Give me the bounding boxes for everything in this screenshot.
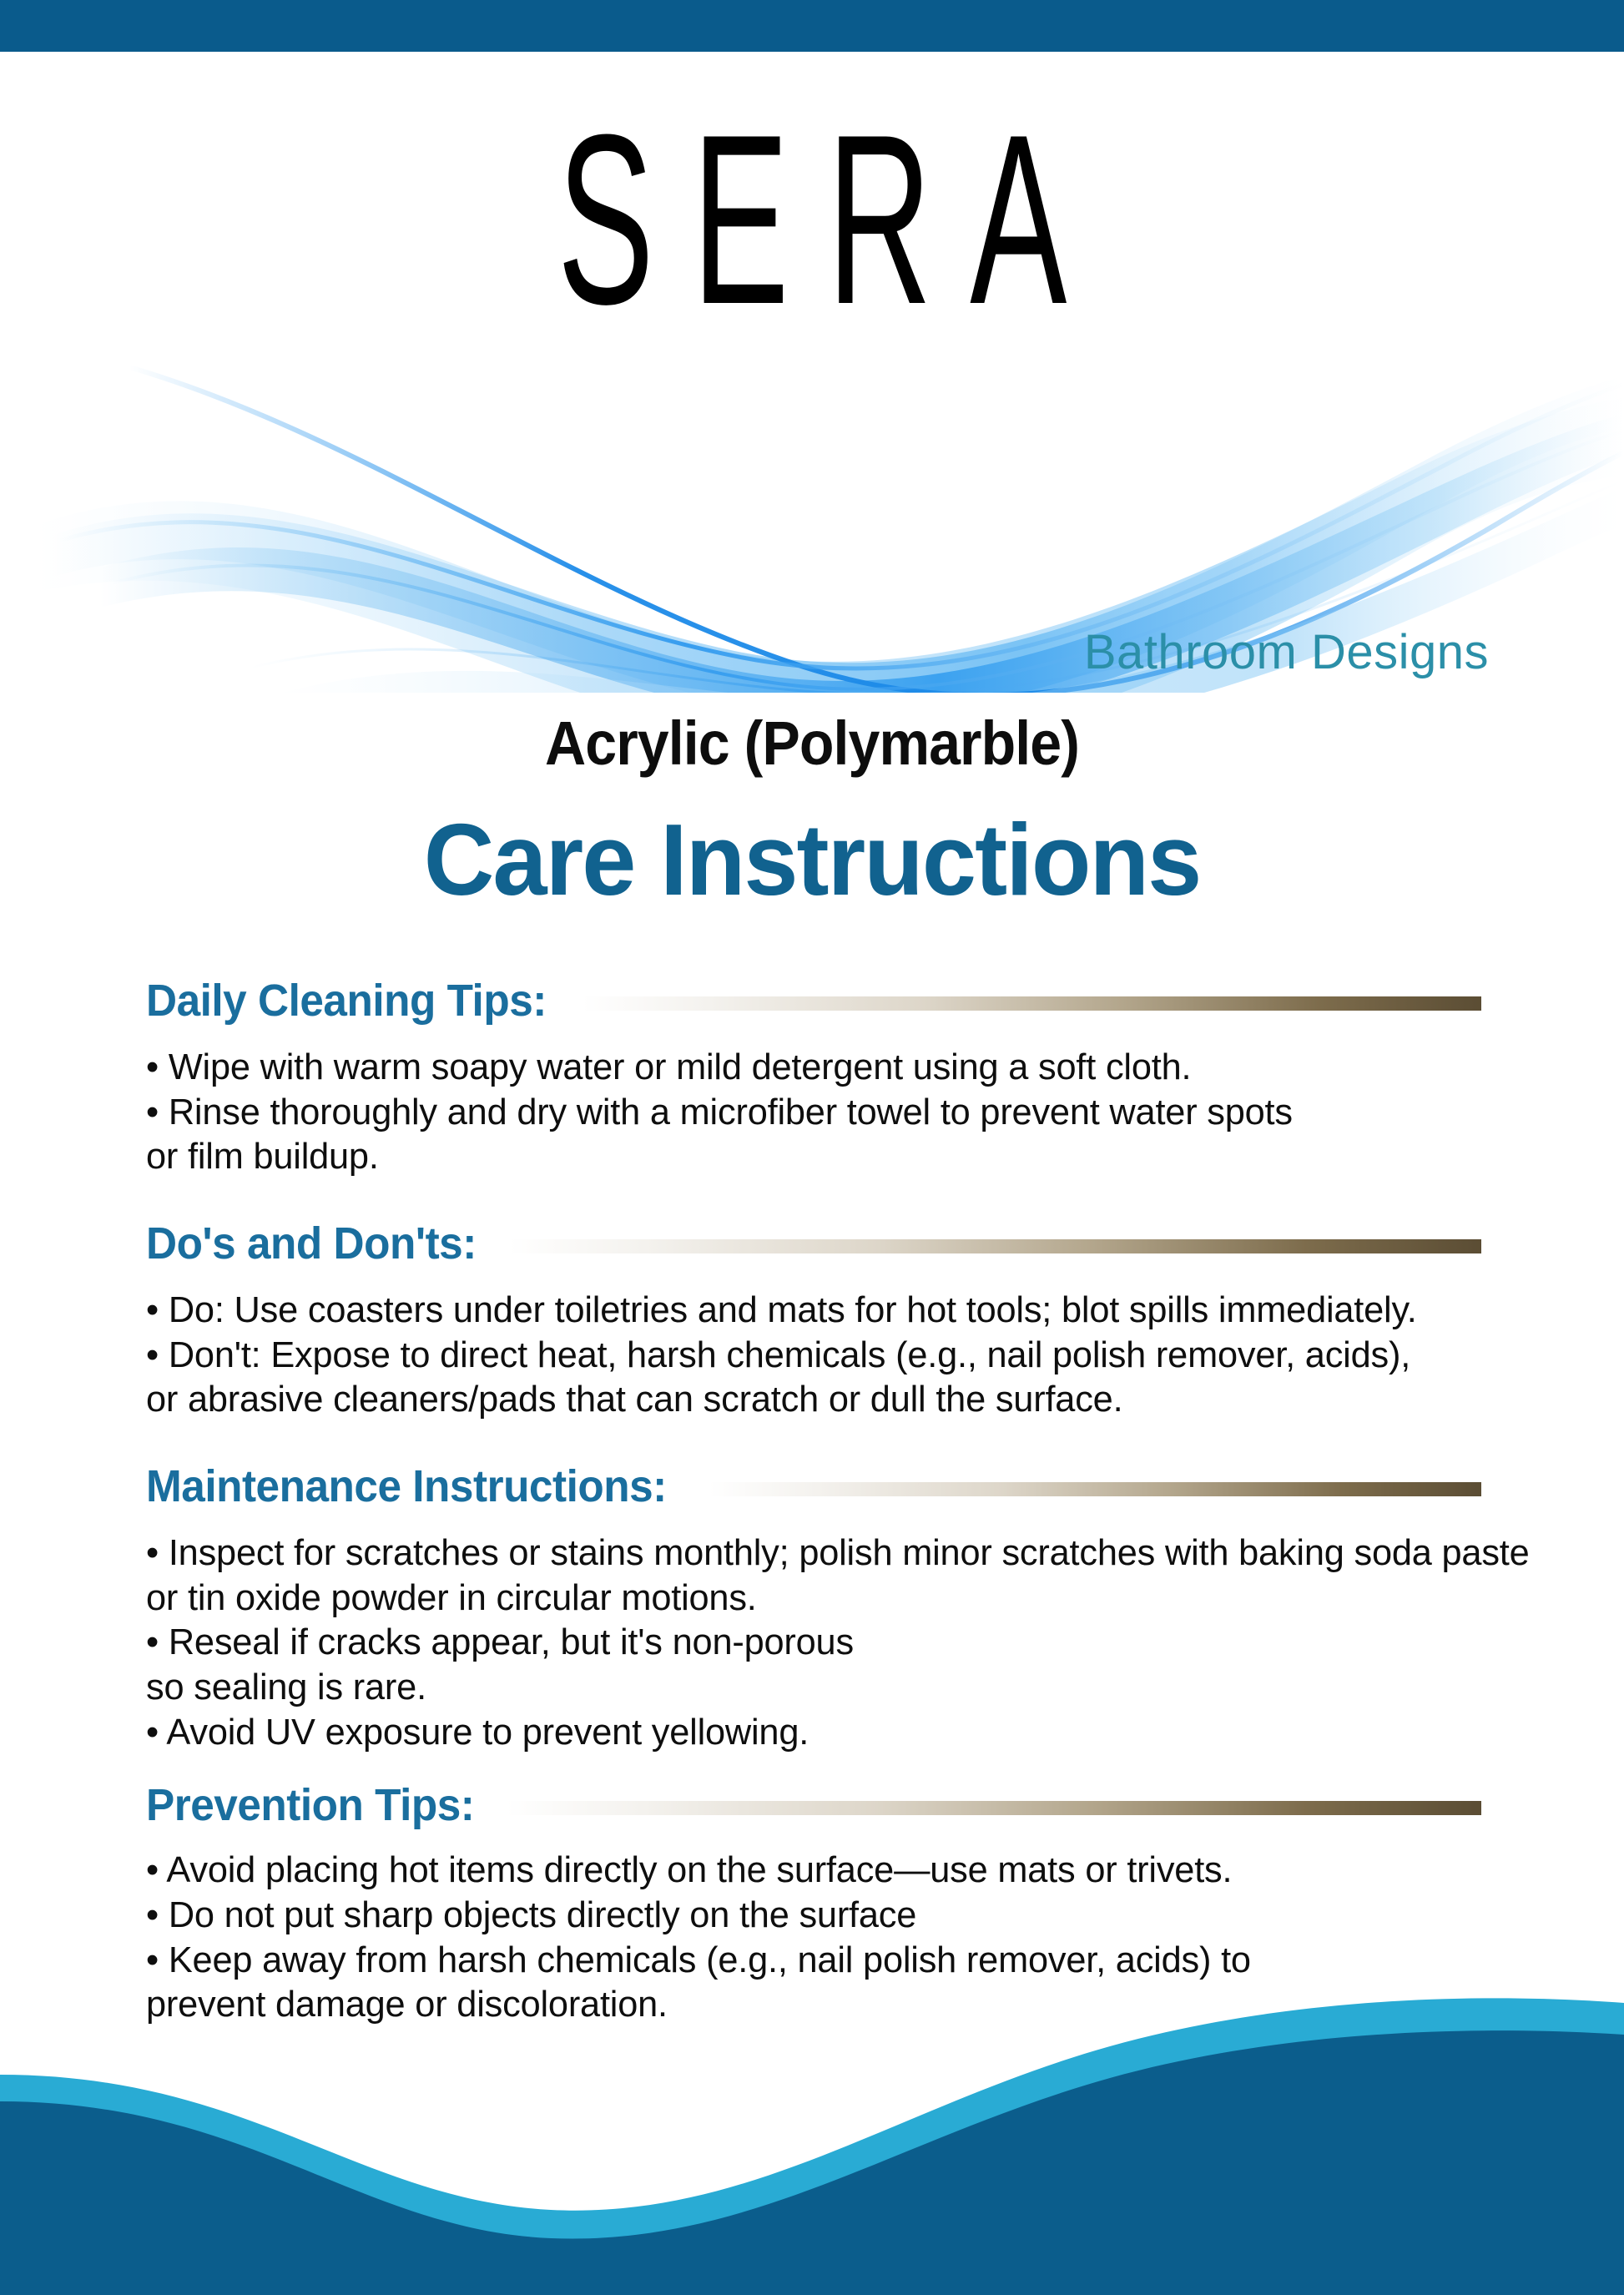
bullet-line: • Keep away from harsh chemicals (e.g., … (146, 1938, 1461, 1983)
bullet-line: • Reseal if cracks appear, but it's non-… (146, 1620, 1461, 1665)
section-heading: Daily Cleaning Tips: (146, 975, 547, 1026)
bullet-line: or tin oxide powder in circular motions. (146, 1576, 1461, 1621)
bullet-line: or film buildup. (146, 1134, 1461, 1179)
section-header-row: Do's and Don'ts: (146, 1218, 1481, 1269)
section-maintenance-instructions: Maintenance Instructions: • Inspect for … (146, 1460, 1481, 1754)
section-prevention-tips: Prevention Tips: • Avoid placing hot ite… (146, 1779, 1481, 2027)
brand-tagline: Bathroom Designs (1084, 624, 1489, 680)
top-accent-bar (0, 0, 1624, 52)
bullet-line: • Do: Use coasters under toiletries and … (146, 1288, 1461, 1333)
page-title: Care Instructions (33, 801, 1591, 918)
section-header-row: Prevention Tips: (146, 1779, 1481, 1831)
section-divider-bar (507, 1801, 1481, 1815)
section-heading: Prevention Tips: (146, 1779, 474, 1831)
section-dos-and-donts: Do's and Don'ts: • Do: Use coasters unde… (146, 1218, 1481, 1422)
bullet-line: • Wipe with warm soapy water or mild det… (146, 1045, 1461, 1090)
section-divider-bar (509, 1239, 1481, 1253)
bullet-line: • Rinse thoroughly and dry with a microf… (146, 1090, 1461, 1135)
section-daily-cleaning-tips: Daily Cleaning Tips: • Wipe with warm so… (146, 975, 1481, 1179)
bullet-line: so sealing is rare. (146, 1665, 1461, 1710)
brand-wordmark: SERA (325, 98, 1299, 340)
bullet-line: • Don't: Expose to direct heat, harsh ch… (146, 1333, 1461, 1378)
section-header-row: Daily Cleaning Tips: (146, 975, 1481, 1026)
section-divider-bar (583, 996, 1481, 1011)
section-heading: Maintenance Instructions: (146, 1460, 667, 1512)
section-heading: Do's and Don'ts: (146, 1218, 477, 1269)
footer-wave-graphic (0, 1995, 1624, 2295)
material-subtitle: Acrylic (Polymarble) (65, 708, 1559, 779)
care-instructions-content: Daily Cleaning Tips: • Wipe with warm so… (146, 975, 1481, 2027)
section-divider-bar (709, 1482, 1481, 1496)
bullet-line: • Inspect for scratches or stains monthl… (146, 1531, 1461, 1576)
bullet-line: or abrasive cleaners/pads that can scrat… (146, 1377, 1461, 1422)
bullet-line: • Do not put sharp objects directly on t… (146, 1893, 1461, 1938)
bullet-line: • Avoid placing hot items directly on th… (146, 1848, 1461, 1893)
section-header-row: Maintenance Instructions: (146, 1460, 1481, 1512)
bullet-line: • Avoid UV exposure to prevent yellowing… (146, 1710, 1461, 1755)
